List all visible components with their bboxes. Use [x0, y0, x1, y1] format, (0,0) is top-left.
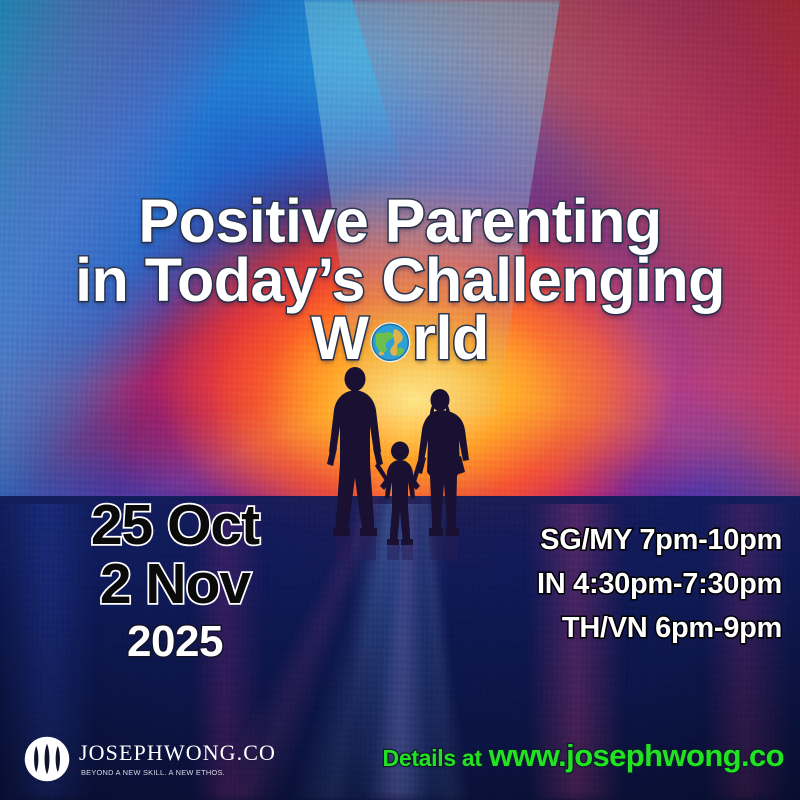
father-silhouette [327, 367, 383, 536]
details-cta[interactable]: Details atwww.josephwong.co [383, 738, 784, 774]
logo-name: JOSEPHWONG.CO [79, 742, 276, 764]
date-year: 2025 [40, 617, 310, 667]
title-line-2: in Today’s Challenging [0, 251, 800, 310]
details-label: Details at [383, 745, 482, 771]
poster-title: Positive Parenting in Today’s Challengin… [0, 192, 800, 368]
time-line-th-vn: TH/VN 6pm-9pm [537, 606, 782, 650]
date-line-1: 25 Oct [40, 496, 310, 555]
title-line-3: Wrld [0, 309, 800, 368]
child-silhouette [380, 442, 420, 546]
title-line-3-after: rld [412, 304, 488, 372]
website-url-link[interactable]: www.josephwong.co [489, 738, 784, 773]
josephwong-circle-mark-icon [24, 736, 70, 782]
date-line-2: 2 Nov [40, 555, 310, 614]
time-line-sg-my: SG/MY 7pm-10pm [537, 518, 782, 562]
logo-text-block: JOSEPHWONG.CO BEYOND A NEW SKILL. A NEW … [79, 742, 276, 776]
time-line-in: IN 4:30pm-7:30pm [537, 562, 782, 606]
globe-icon [369, 321, 412, 364]
event-dates: 25 Oct 2 Nov 2025 [40, 496, 310, 667]
family-silhouette-artwork [300, 360, 500, 560]
poster-canvas: Positive Parenting in Today’s Challengin… [0, 0, 800, 800]
mother-silhouette [416, 389, 469, 536]
event-times: SG/MY 7pm-10pm IN 4:30pm-7:30pm TH/VN 6p… [537, 518, 782, 650]
brand-logo[interactable]: JOSEPHWONG.CO BEYOND A NEW SKILL. A NEW … [24, 736, 276, 782]
title-line-1: Positive Parenting [0, 192, 800, 251]
title-line-3-before: W [311, 304, 368, 372]
logo-tagline: BEYOND A NEW SKILL. A NEW ETHOS. [81, 769, 276, 776]
